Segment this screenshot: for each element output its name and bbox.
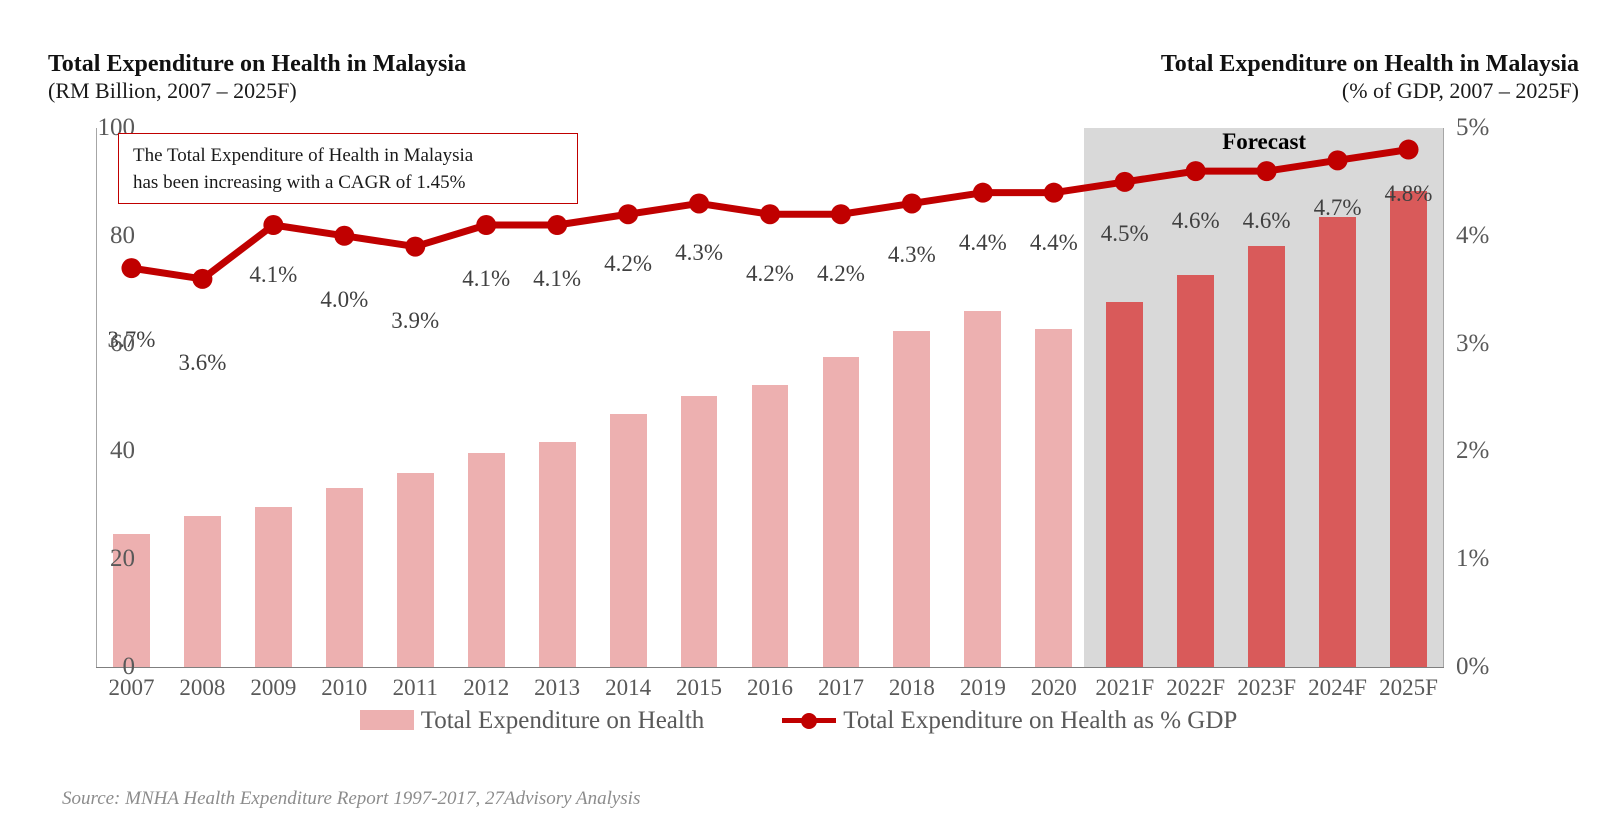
line-data-label-2010: 4.0% bbox=[309, 288, 380, 311]
y-axis-left-tick-80: 80 bbox=[110, 223, 135, 248]
right-title-sub: (% of GDP, 2007 – 2025F) bbox=[1161, 78, 1579, 104]
line-data-label-2018: 4.3% bbox=[876, 243, 947, 266]
line-data-label-2016: 4.2% bbox=[735, 262, 806, 285]
y-axis-right-tick-4pct: 4% bbox=[1456, 223, 1489, 248]
chart-titles: Total Expenditure on Health in Malaysia … bbox=[0, 0, 1597, 110]
line-marker-2019[interactable] bbox=[973, 183, 993, 203]
line-marker-2018[interactable] bbox=[902, 193, 922, 213]
y-axis-right-tick-0pct: 0% bbox=[1456, 654, 1489, 679]
legend-bar-swatch-icon bbox=[360, 710, 414, 730]
chart-legend: Total Expenditure on Health Total Expend… bbox=[0, 700, 1597, 740]
x-axis-label-2015: 2015 bbox=[664, 676, 735, 699]
x-axis-label-2020: 2020 bbox=[1018, 676, 1089, 699]
line-data-label-2013: 4.1% bbox=[522, 267, 593, 290]
legend-item-bar[interactable]: Total Expenditure on Health bbox=[360, 708, 705, 733]
y-axis-right-tick-5pct: 5% bbox=[1456, 115, 1489, 140]
line-marker-2011[interactable] bbox=[405, 237, 425, 257]
x-axis-label-2010: 2010 bbox=[309, 676, 380, 699]
line-marker-2013[interactable] bbox=[547, 215, 567, 235]
legend-item-line[interactable]: Total Expenditure on Health as % GDP bbox=[782, 708, 1237, 733]
x-axis-label-2018: 2018 bbox=[876, 676, 947, 699]
cagr-callout-box: The Total Expenditure of Health in Malay… bbox=[118, 133, 578, 204]
x-axis-label-2017: 2017 bbox=[805, 676, 876, 699]
x-axis-line bbox=[96, 667, 1444, 668]
x-axis-label-2012: 2012 bbox=[451, 676, 522, 699]
x-axis-label-2007: 2007 bbox=[96, 676, 167, 699]
line-marker-2024F[interactable] bbox=[1328, 150, 1348, 170]
line-data-label-2009: 4.1% bbox=[238, 263, 309, 286]
y-axis-right-tick-3pct: 3% bbox=[1456, 331, 1489, 356]
line-data-label-2017: 4.2% bbox=[805, 262, 876, 285]
line-data-label-2012: 4.1% bbox=[451, 267, 522, 290]
line-data-label-2022F: 4.6% bbox=[1160, 209, 1231, 232]
y-axis-left-tick-40: 40 bbox=[110, 438, 135, 463]
y-axis-right-tick-2pct: 2% bbox=[1456, 438, 1489, 463]
line-marker-2015[interactable] bbox=[689, 193, 709, 213]
left-title-sub: (RM Billion, 2007 – 2025F) bbox=[48, 78, 466, 104]
line-marker-2014[interactable] bbox=[618, 204, 638, 224]
x-axis-label-2016: 2016 bbox=[735, 676, 806, 699]
legend-label-bar: Total Expenditure on Health bbox=[421, 708, 705, 733]
line-marker-2021F[interactable] bbox=[1115, 172, 1135, 192]
forecast-region-label: Forecast bbox=[1084, 130, 1444, 153]
line-data-label-2008: 3.6% bbox=[167, 351, 238, 374]
right-title-main: Total Expenditure on Health in Malaysia bbox=[1161, 50, 1579, 78]
cagr-callout-line-2: has been increasing with a CAGR of 1.45% bbox=[133, 170, 563, 197]
x-axis-label-2024F: 2024F bbox=[1302, 676, 1373, 699]
line-marker-2010[interactable] bbox=[334, 226, 354, 246]
line-data-label-2015: 4.3% bbox=[664, 241, 735, 264]
legend-line-marker-icon bbox=[782, 710, 836, 730]
line-marker-2007[interactable] bbox=[121, 258, 141, 278]
line-data-label-2023F: 4.6% bbox=[1231, 209, 1302, 232]
line-marker-2022F[interactable] bbox=[1186, 161, 1206, 181]
source-note: Source: MNHA Health Expenditure Report 1… bbox=[62, 789, 640, 808]
left-title-block: Total Expenditure on Health in Malaysia … bbox=[48, 50, 466, 105]
x-axis-label-2022F: 2022F bbox=[1160, 676, 1231, 699]
x-axis-label-2009: 2009 bbox=[238, 676, 309, 699]
line-marker-2012[interactable] bbox=[476, 215, 496, 235]
y-axis-right-tick-1pct: 1% bbox=[1456, 546, 1489, 571]
line-data-label-2011: 3.9% bbox=[380, 309, 451, 332]
left-title-main: Total Expenditure on Health in Malaysia bbox=[48, 50, 466, 78]
line-data-label-2024F: 4.7% bbox=[1302, 196, 1373, 219]
line-marker-2008[interactable] bbox=[192, 269, 212, 289]
plot-area: 3.7%3.6%4.1%4.0%3.9%4.1%4.1%4.2%4.3%4.2%… bbox=[96, 128, 1444, 667]
y-axis-left-tick-20: 20 bbox=[110, 546, 135, 571]
line-data-label-2014: 4.2% bbox=[593, 252, 664, 275]
x-axis-label-2025F: 2025F bbox=[1373, 676, 1444, 699]
line-marker-2020[interactable] bbox=[1044, 183, 1064, 203]
x-axis-label-2021F: 2021F bbox=[1089, 676, 1160, 699]
x-axis-label-2023F: 2023F bbox=[1231, 676, 1302, 699]
x-axis-label-2019: 2019 bbox=[947, 676, 1018, 699]
line-marker-2023F[interactable] bbox=[1257, 161, 1277, 181]
line-data-label-2019: 4.4% bbox=[947, 231, 1018, 254]
y-axis-left-tick-60: 60 bbox=[110, 331, 135, 356]
line-data-label-2021F: 4.5% bbox=[1089, 222, 1160, 245]
x-axis-label-2013: 2013 bbox=[522, 676, 593, 699]
x-axis-label-2014: 2014 bbox=[593, 676, 664, 699]
line-data-label-2025F: 4.8% bbox=[1373, 182, 1444, 205]
right-title-block: Total Expenditure on Health in Malaysia … bbox=[1161, 50, 1579, 105]
line-marker-2009[interactable] bbox=[263, 215, 283, 235]
legend-label-line: Total Expenditure on Health as % GDP bbox=[843, 708, 1237, 733]
cagr-callout-line-1: The Total Expenditure of Health in Malay… bbox=[133, 143, 563, 170]
line-marker-2017[interactable] bbox=[831, 204, 851, 224]
x-axis-label-2011: 2011 bbox=[380, 676, 451, 699]
x-axis-label-2008: 2008 bbox=[167, 676, 238, 699]
line-marker-2016[interactable] bbox=[760, 204, 780, 224]
line-data-label-2020: 4.4% bbox=[1018, 231, 1089, 254]
